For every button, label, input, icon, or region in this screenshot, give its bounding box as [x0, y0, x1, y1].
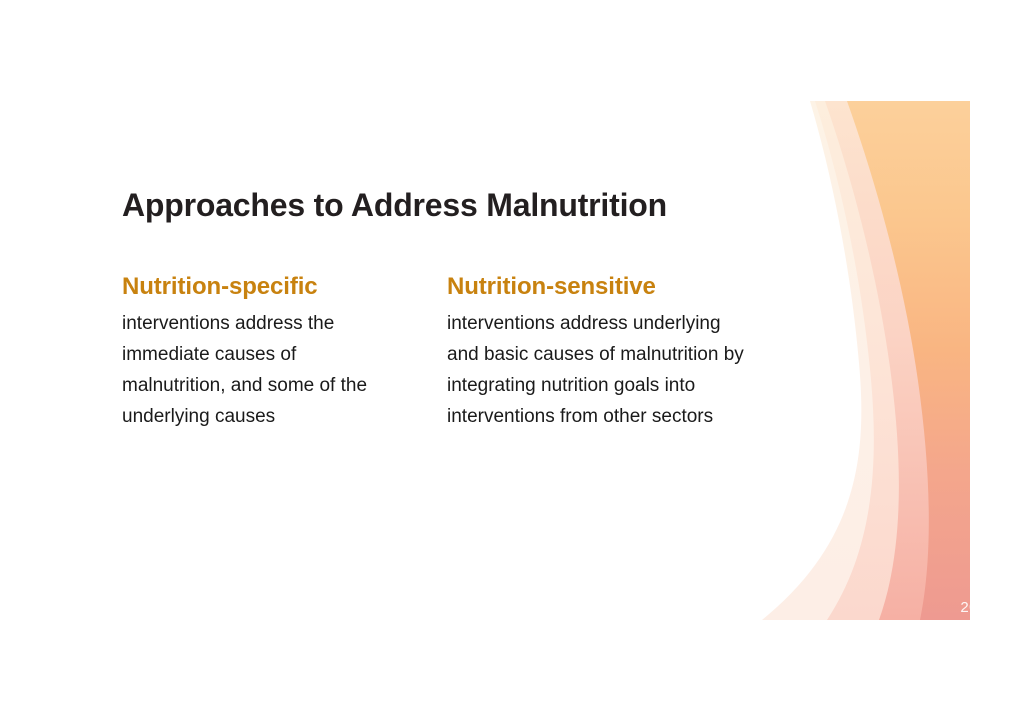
column-nutrition-specific: Nutrition-specific interventions address… — [122, 272, 447, 432]
swoosh-band-main — [847, 101, 970, 620]
swoosh-band-pink — [825, 101, 970, 620]
column-body-nutrition-sensitive: interventions address underlying and bas… — [447, 308, 747, 432]
swoosh-band-blush — [815, 101, 970, 620]
column-heading-nutrition-specific: Nutrition-specific — [122, 272, 447, 302]
column-heading-nutrition-sensitive: Nutrition-sensitive — [447, 272, 777, 302]
page-title: Approaches to Address Malnutrition — [122, 186, 822, 224]
column-body-nutrition-specific: interventions address the immediate caus… — [122, 308, 400, 432]
content-columns: Nutrition-specific interventions address… — [122, 272, 822, 432]
slide-number: 20 — [960, 599, 978, 616]
slide: 20 Approaches to Address Malnutrition Nu… — [0, 0, 1024, 724]
column-nutrition-sensitive: Nutrition-sensitive interventions addres… — [447, 272, 777, 432]
